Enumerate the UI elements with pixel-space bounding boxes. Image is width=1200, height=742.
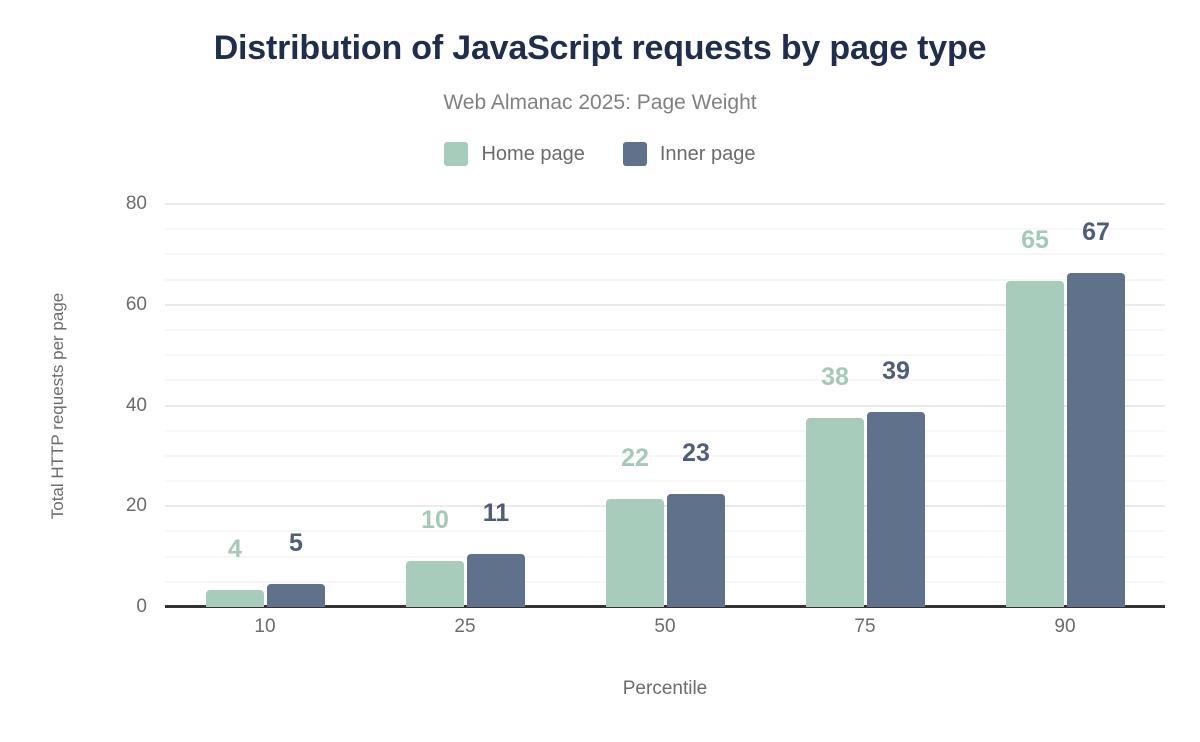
plot-wrapper: Total HTTP requests per page 020406080 4… <box>0 0 1200 742</box>
bar-value-label: 5 <box>267 529 325 558</box>
bar-home-90[interactable] <box>1006 281 1064 607</box>
x-axis-title: Percentile <box>165 678 1165 700</box>
bar-inner-10[interactable] <box>267 584 325 607</box>
x-axis-ticks: 1025507590 <box>165 616 1165 646</box>
bar-groups: 451011222338396567 <box>165 204 1165 607</box>
bar-group: 2223 <box>565 204 765 607</box>
bar-group: 45 <box>165 204 365 607</box>
y-tick-label: 80 <box>87 193 147 215</box>
bar-value-label: 4 <box>206 535 264 564</box>
bar-group: 3839 <box>765 204 965 607</box>
bar-value-label: 39 <box>867 357 925 386</box>
y-tick-label: 40 <box>87 395 147 417</box>
bar-inner-90[interactable] <box>1067 273 1125 607</box>
bar-value-label: 11 <box>467 499 525 528</box>
y-axis-title-text: Total HTTP requests per page <box>48 293 68 519</box>
x-tick-label: 75 <box>765 616 965 638</box>
bar-value-label: 22 <box>606 444 664 473</box>
x-tick-label: 50 <box>565 616 765 638</box>
x-tick-label: 90 <box>965 616 1165 638</box>
bar-inner-25[interactable] <box>467 554 525 607</box>
x-tick-label: 10 <box>165 616 365 638</box>
bar-home-75[interactable] <box>806 418 864 607</box>
x-tick-label: 25 <box>365 616 565 638</box>
bar-inner-75[interactable] <box>867 412 925 607</box>
bar-inner-50[interactable] <box>667 494 725 607</box>
bar-group: 6567 <box>965 204 1165 607</box>
bar-home-10[interactable] <box>206 590 264 607</box>
bar-value-label: 38 <box>806 363 864 392</box>
bar-value-label: 23 <box>667 439 725 468</box>
y-tick-label: 20 <box>87 495 147 517</box>
y-tick-label: 60 <box>87 294 147 316</box>
bar-home-50[interactable] <box>606 499 664 607</box>
bar-value-label: 67 <box>1067 218 1125 247</box>
y-axis-title: Total HTTP requests per page <box>45 196 71 616</box>
bar-value-label: 65 <box>1006 226 1064 255</box>
bar-value-label: 10 <box>406 506 464 535</box>
y-axis-ticks: 020406080 <box>85 204 147 607</box>
y-tick-label: 0 <box>87 596 147 618</box>
bar-group: 1011 <box>365 204 565 607</box>
chart-container: Distribution of JavaScript requests by p… <box>0 0 1200 742</box>
bar-home-25[interactable] <box>406 561 464 607</box>
